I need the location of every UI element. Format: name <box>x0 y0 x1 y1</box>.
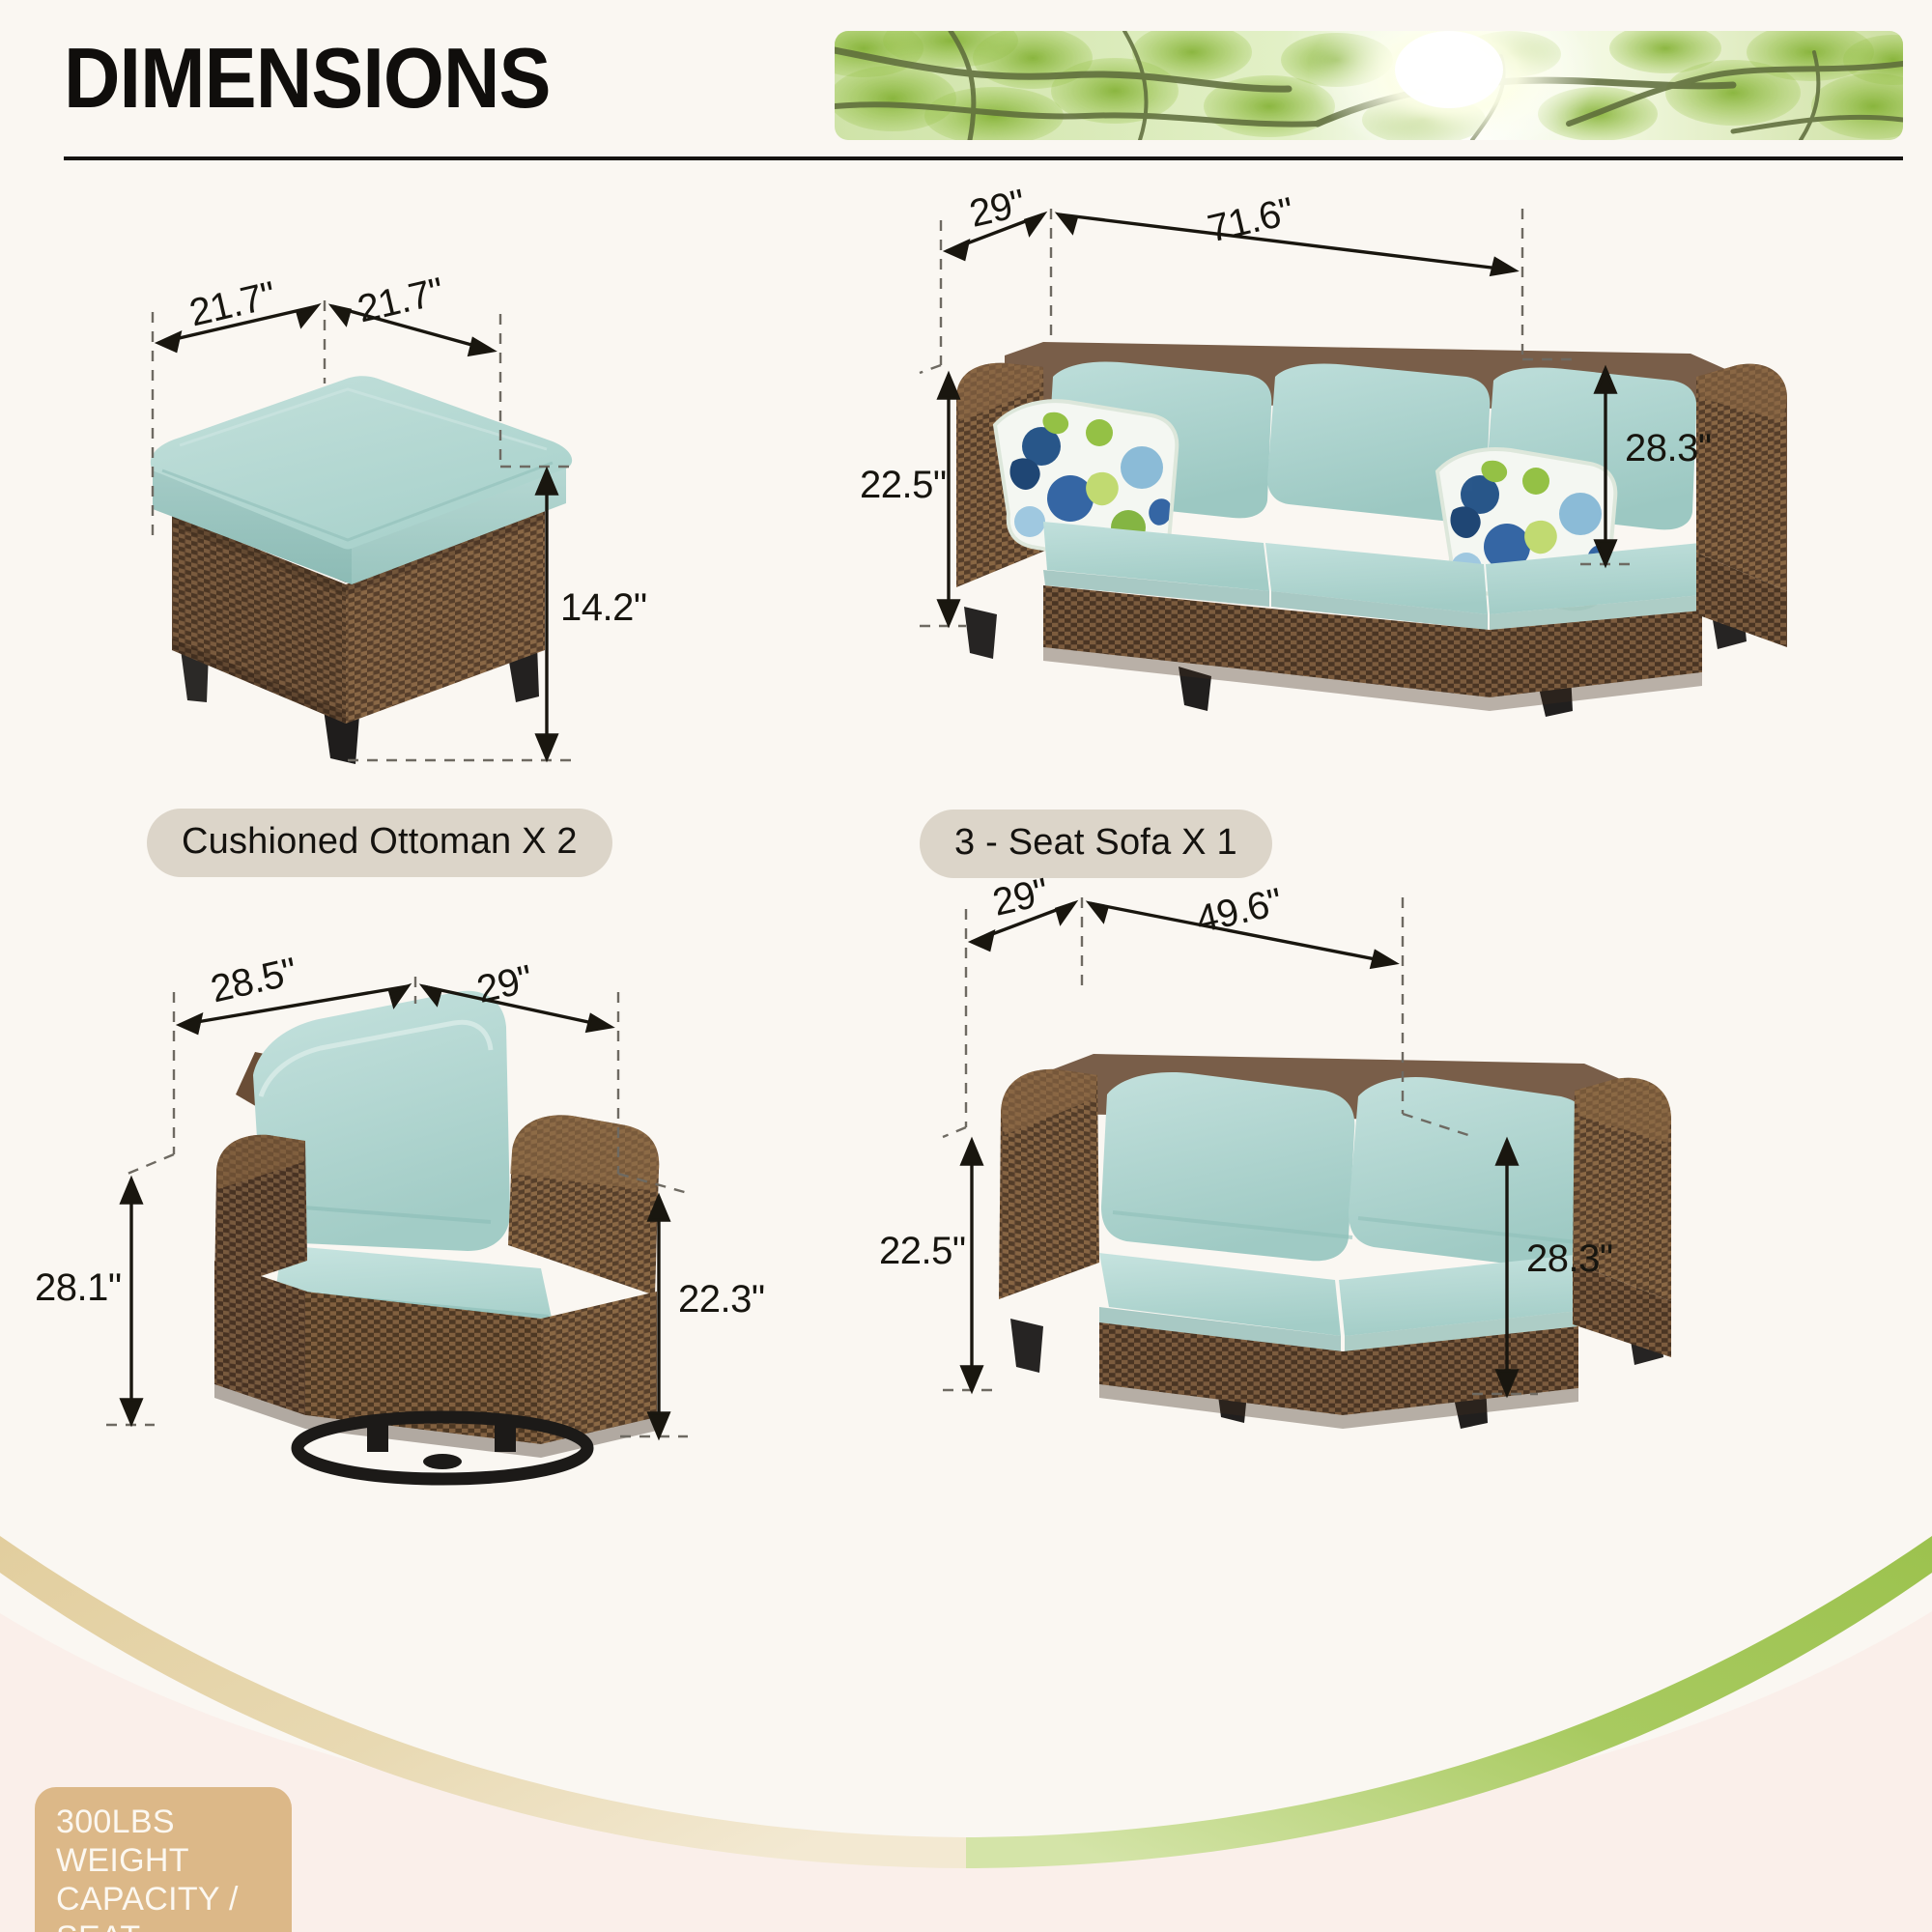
sofa-dim-height-left: 22.5" <box>860 464 947 507</box>
chair-dim-height-right: 22.3" <box>678 1278 765 1321</box>
weight-badge-line1: 300LBS WEIGHT <box>56 1803 270 1880</box>
product-cell-ottoman: 21.7" 21.7" 14.2" Cushioned Ottoman X 2 <box>39 208 889 884</box>
sofa-dim-height-right: 28.3" <box>1625 427 1712 470</box>
page-title: DIMENSIONS <box>64 29 551 128</box>
tree-canopy-photo-banner <box>835 31 1903 140</box>
ottoman-dimension-guides <box>39 208 889 884</box>
title-divider <box>64 156 1903 160</box>
weight-badge-line2: CAPACITY / SEAT <box>56 1880 270 1932</box>
weight-capacity-badge: 300LBS WEIGHT CAPACITY / SEAT <box>35 1787 292 1932</box>
love-seat-dim-height-right: 28.3" <box>1526 1237 1613 1281</box>
sofa-dimension-guides <box>889 174 1932 884</box>
ottoman-dim-height: 14.2" <box>560 586 647 630</box>
chair-dim-height-left: 28.1" <box>35 1266 122 1310</box>
product-cell-sofa: 29" 71.6" 22.5" 28.3" 3 - Seat Sofa X 1 <box>889 174 1932 884</box>
dimensions-infographic: DIMENSIONS <box>0 0 1932 1932</box>
love-seat-dim-height-left: 22.5" <box>879 1230 966 1273</box>
tree-canopy-icon <box>835 31 1903 140</box>
